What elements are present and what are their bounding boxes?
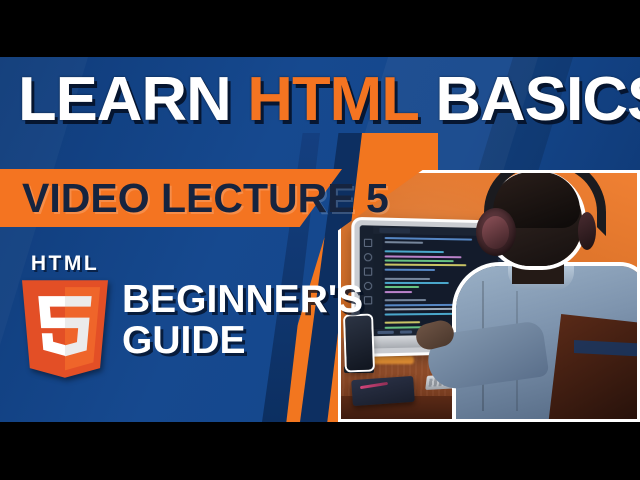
- subtitle-line-2: GUIDE: [122, 320, 363, 361]
- office-chair: [538, 314, 640, 422]
- headline-part-basics: BASICS: [435, 69, 640, 131]
- letterbox-top: [0, 0, 640, 57]
- subtitle-line-1: BEGINNER'S: [122, 279, 363, 320]
- headphone-ear-pad: [482, 216, 509, 249]
- chair-back: [548, 314, 640, 422]
- notebook: [351, 376, 415, 406]
- page-title: LEARN HTML BASICS: [18, 69, 640, 131]
- headline-part-learn: LEARN: [18, 69, 231, 131]
- debug-icon: [363, 282, 371, 290]
- html5-logo: HTML: [16, 253, 112, 381]
- letterbox-bottom: [0, 422, 640, 480]
- search-icon: [363, 253, 371, 261]
- html5-shield-icon: [22, 279, 108, 379]
- files-icon: [363, 239, 371, 247]
- chair-back-slot: [574, 340, 640, 357]
- subtitle-block: BEGINNER'S GUIDE: [122, 279, 363, 361]
- branch-icon: [363, 267, 371, 275]
- headline-part-html: HTML: [247, 69, 419, 131]
- lecture-banner-label: VIDEO LECTURE 5: [22, 175, 389, 221]
- headphone-ear-cup-right: [578, 212, 596, 250]
- extensions-icon: [363, 296, 371, 304]
- ide-line-numbers: [373, 234, 382, 328]
- html5-wordmark: HTML: [19, 253, 111, 275]
- video-thumbnail: LEARN HTML BASICS VIDEO LECTURE 5 HTML B…: [0, 0, 640, 480]
- monitor-glow-left: [368, 356, 414, 364]
- ide-open-tab: [379, 227, 410, 233]
- thumbnail-stage: LEARN HTML BASICS VIDEO LECTURE 5 HTML B…: [0, 57, 640, 422]
